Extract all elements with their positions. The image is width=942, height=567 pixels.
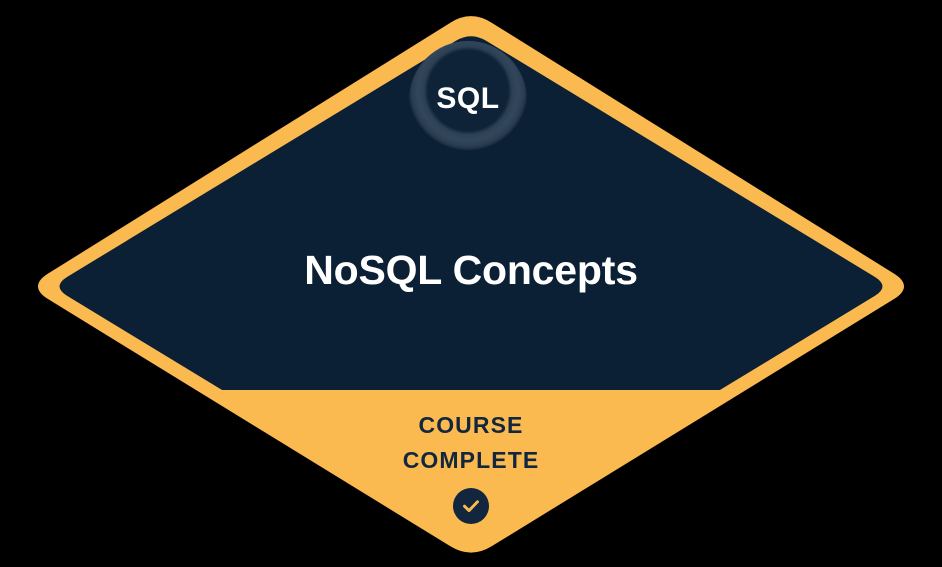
- status-line-complete: COMPLETE: [0, 443, 942, 478]
- sql-circle-emblem: SQL: [409, 41, 527, 159]
- completion-status: COURSE COMPLETE: [0, 408, 942, 524]
- course-title: NoSQL Concepts: [0, 243, 942, 297]
- check-mark-icon: [453, 488, 489, 524]
- certificate-badge-screen: SQL NoSQL Concepts COURSE COMPLETE: [0, 0, 942, 567]
- course-completion-badge[interactable]: SQL NoSQL Concepts COURSE COMPLETE: [0, 0, 942, 567]
- status-line-course: COURSE: [0, 408, 942, 443]
- sql-emblem-label: SQL: [436, 84, 499, 114]
